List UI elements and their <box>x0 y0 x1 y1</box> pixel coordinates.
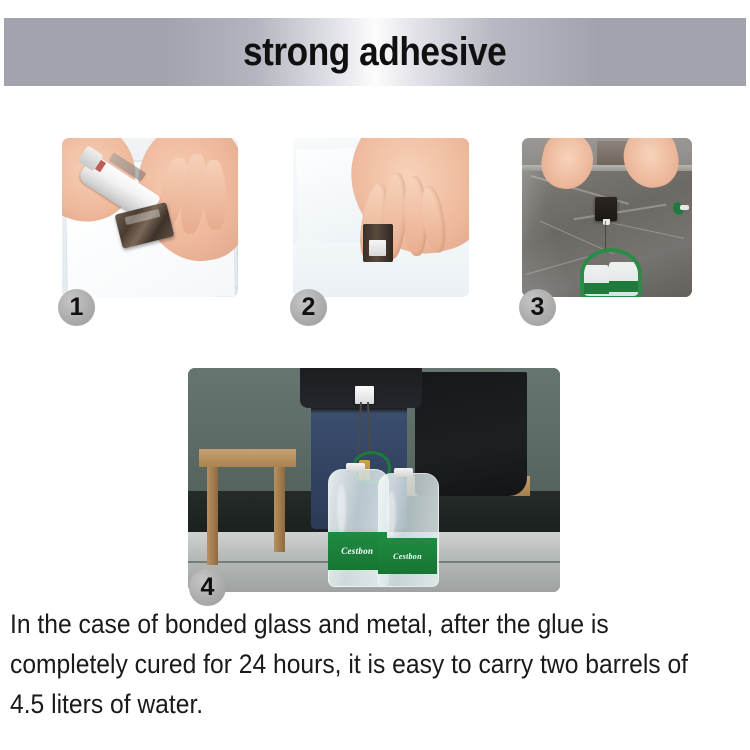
bottle-label-back: Cestbon <box>378 538 438 574</box>
green-strap <box>580 248 642 297</box>
hanging-string <box>605 221 606 250</box>
bottle-cap <box>394 468 413 477</box>
step-4-scene: Cestbon Cestbon <box>188 368 560 592</box>
bottle-brand-text: Cestbon <box>341 546 373 556</box>
bottle-brand-text: Cestbon <box>393 552 422 561</box>
step-3-photo <box>522 138 692 297</box>
step-1-photo <box>62 138 238 297</box>
step-3-scene <box>522 138 692 297</box>
black-adhesive-hook <box>595 197 617 221</box>
caption-text: In the case of bonded glass and metal, a… <box>10 604 689 724</box>
wooden-table-top <box>199 449 296 467</box>
step-2-badge: 2 <box>290 289 327 326</box>
white-adhesive-hook <box>355 386 374 404</box>
header-banner: strong adhesive <box>4 18 746 86</box>
step-2-scene <box>293 138 469 297</box>
hook-highlight <box>369 240 387 256</box>
step-1-badge: 1 <box>58 289 95 326</box>
step-4-badge: 4 <box>189 569 226 606</box>
bottle-shine <box>337 484 346 533</box>
step-3-badge: 3 <box>519 289 556 326</box>
page-title: strong adhesive <box>243 32 506 72</box>
step-4-photo: Cestbon Cestbon <box>188 368 560 592</box>
step-1-scene <box>62 138 238 297</box>
white-clip <box>680 205 689 210</box>
bottle-cap <box>346 463 365 472</box>
table-leg <box>274 467 285 552</box>
table-leg <box>207 467 218 566</box>
step-2-photo <box>293 138 469 297</box>
